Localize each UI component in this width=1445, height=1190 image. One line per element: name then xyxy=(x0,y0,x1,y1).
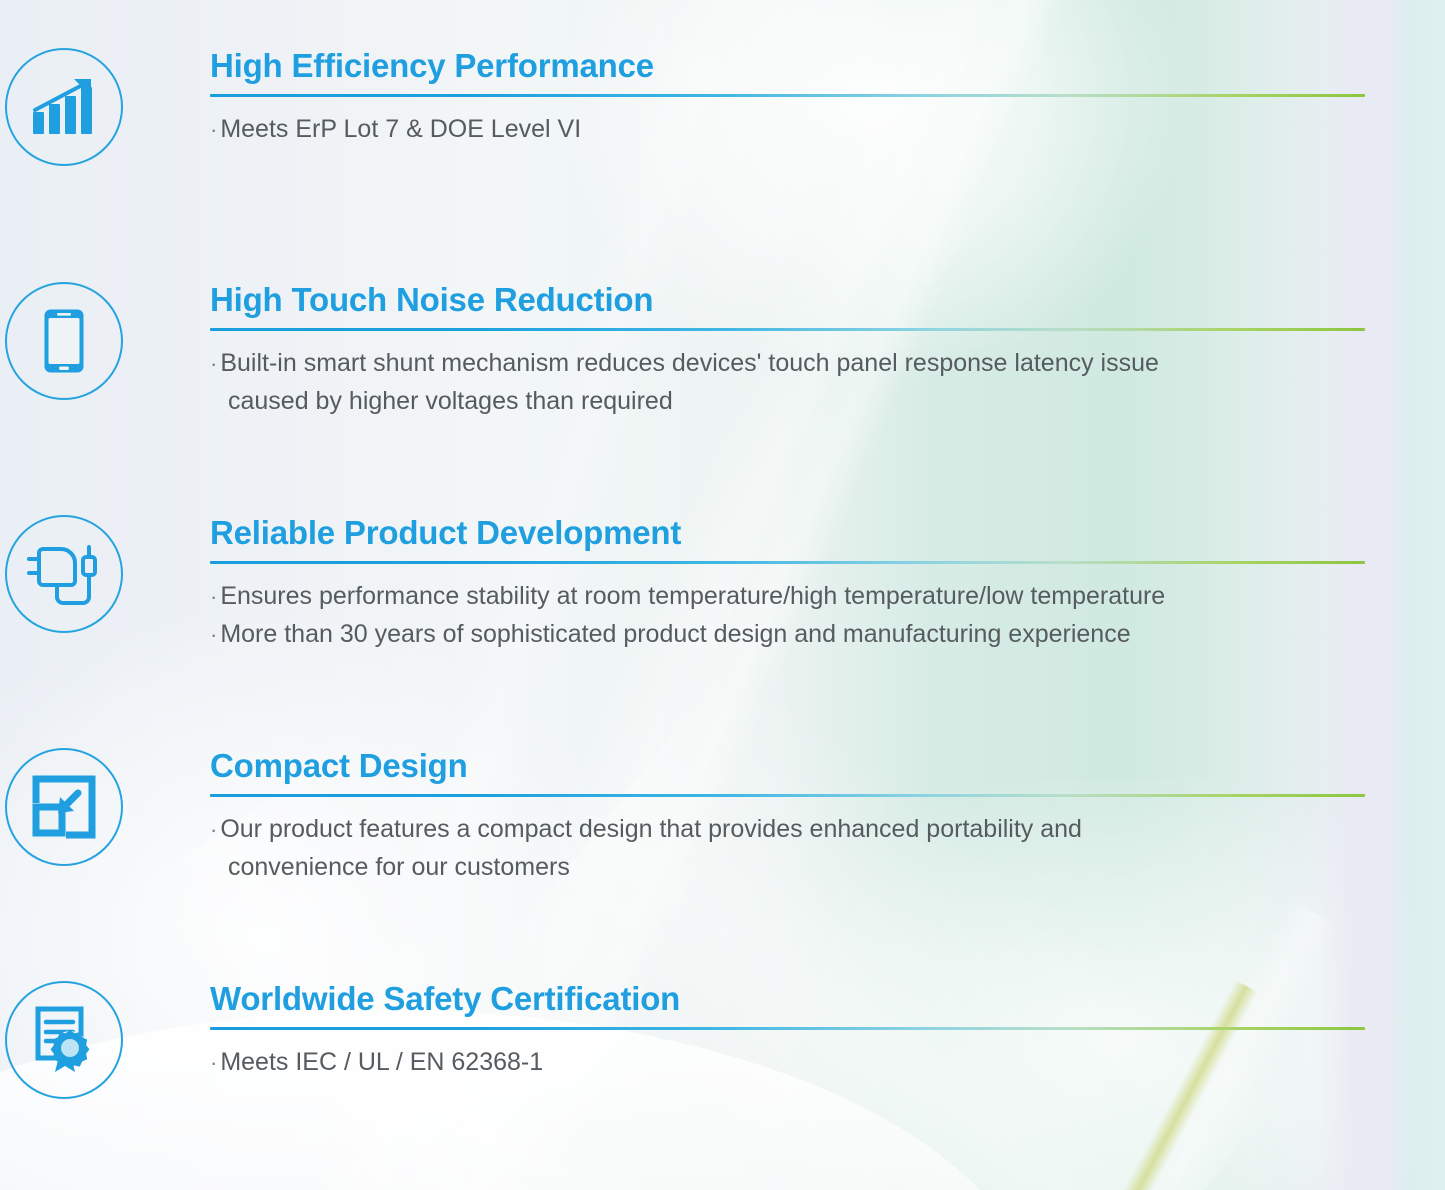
feature-bullets: ·Meets IEC / UL / EN 62368-1 xyxy=(210,1043,1445,1081)
feature-body: High Efficiency Performance ·Meets ErP L… xyxy=(128,46,1445,148)
bullet-marker: · xyxy=(210,117,220,142)
bullet-item: ·Ensures performance stability at room t… xyxy=(210,577,1445,615)
smartphone-icon xyxy=(5,282,123,400)
feature-item-high-efficiency-performance: High Efficiency Performance ·Meets ErP L… xyxy=(0,46,1445,166)
feature-divider xyxy=(210,794,1365,797)
feature-body: Reliable Product Development ·Ensures pe… xyxy=(128,513,1445,653)
bullet-marker: · xyxy=(210,1050,220,1075)
feature-title: High Touch Noise Reduction xyxy=(210,282,1445,319)
bullet-marker: · xyxy=(210,622,220,647)
feature-bullets: ·Ensures performance stability at room t… xyxy=(210,577,1445,653)
bullet-text-continued: convenience for our customers xyxy=(210,848,1445,886)
bullet-text: Ensures performance stability at room te… xyxy=(220,582,1165,610)
feature-item-compact-design: Compact Design ·Our product features a c… xyxy=(0,746,1445,886)
feature-divider xyxy=(210,561,1365,564)
bullet-item: ·Our product features a compact design t… xyxy=(210,810,1445,886)
bullet-marker: · xyxy=(210,351,220,376)
bullet-text-continued: caused by higher voltages than required xyxy=(210,382,1445,420)
feature-bullets: ·Built-in smart shunt mechanism reduces … xyxy=(210,344,1445,420)
feature-icon-wrap xyxy=(0,513,128,633)
feature-title: Compact Design xyxy=(210,748,1445,785)
bullet-marker: · xyxy=(210,584,220,609)
feature-body: Compact Design ·Our product features a c… xyxy=(128,746,1445,886)
bullet-text: Meets IEC / UL / EN 62368-1 xyxy=(220,1048,543,1076)
compact-resize-icon xyxy=(5,748,123,866)
feature-item-worldwide-safety-certification: Worldwide Safety Certification ·Meets IE… xyxy=(0,979,1445,1099)
feature-icon-wrap xyxy=(0,746,128,866)
feature-title: High Efficiency Performance xyxy=(210,48,1445,85)
feature-highlights-page: High Efficiency Performance ·Meets ErP L… xyxy=(0,0,1445,1190)
feature-icon-wrap xyxy=(0,280,128,400)
feature-title: Worldwide Safety Certification xyxy=(210,981,1445,1018)
feature-divider xyxy=(210,94,1365,97)
feature-list: High Efficiency Performance ·Meets ErP L… xyxy=(0,0,1445,1190)
feature-item-reliable-product-development: Reliable Product Development ·Ensures pe… xyxy=(0,513,1445,653)
feature-icon-wrap xyxy=(0,46,128,166)
bullet-marker: · xyxy=(210,817,220,842)
bullet-text: Meets ErP Lot 7 & DOE Level VI xyxy=(220,115,581,143)
feature-divider xyxy=(210,328,1365,331)
bullet-item: ·More than 30 years of sophisticated pro… xyxy=(210,615,1445,653)
bullet-item: ·Meets ErP Lot 7 & DOE Level VI xyxy=(210,110,1445,148)
feature-body: High Touch Noise Reduction ·Built-in sma… xyxy=(128,280,1445,420)
feature-body: Worldwide Safety Certification ·Meets IE… xyxy=(128,979,1445,1081)
power-adapter-icon xyxy=(5,515,123,633)
bullet-item: ·Meets IEC / UL / EN 62368-1 xyxy=(210,1043,1445,1081)
bullet-text: Built-in smart shunt mechanism reduces d… xyxy=(220,349,1159,377)
bullet-text: More than 30 years of sophisticated prod… xyxy=(220,620,1130,648)
feature-divider xyxy=(210,1027,1365,1030)
feature-bullets: ·Meets ErP Lot 7 & DOE Level VI xyxy=(210,110,1445,148)
feature-icon-wrap xyxy=(0,979,128,1099)
certificate-award-icon xyxy=(5,981,123,1099)
bullet-text: Our product features a compact design th… xyxy=(220,815,1082,843)
feature-title: Reliable Product Development xyxy=(210,515,1445,552)
feature-bullets: ·Our product features a compact design t… xyxy=(210,810,1445,886)
bar-chart-growth-icon xyxy=(5,48,123,166)
feature-item-high-touch-noise-reduction: High Touch Noise Reduction ·Built-in sma… xyxy=(0,280,1445,420)
bullet-item: ·Built-in smart shunt mechanism reduces … xyxy=(210,344,1445,420)
